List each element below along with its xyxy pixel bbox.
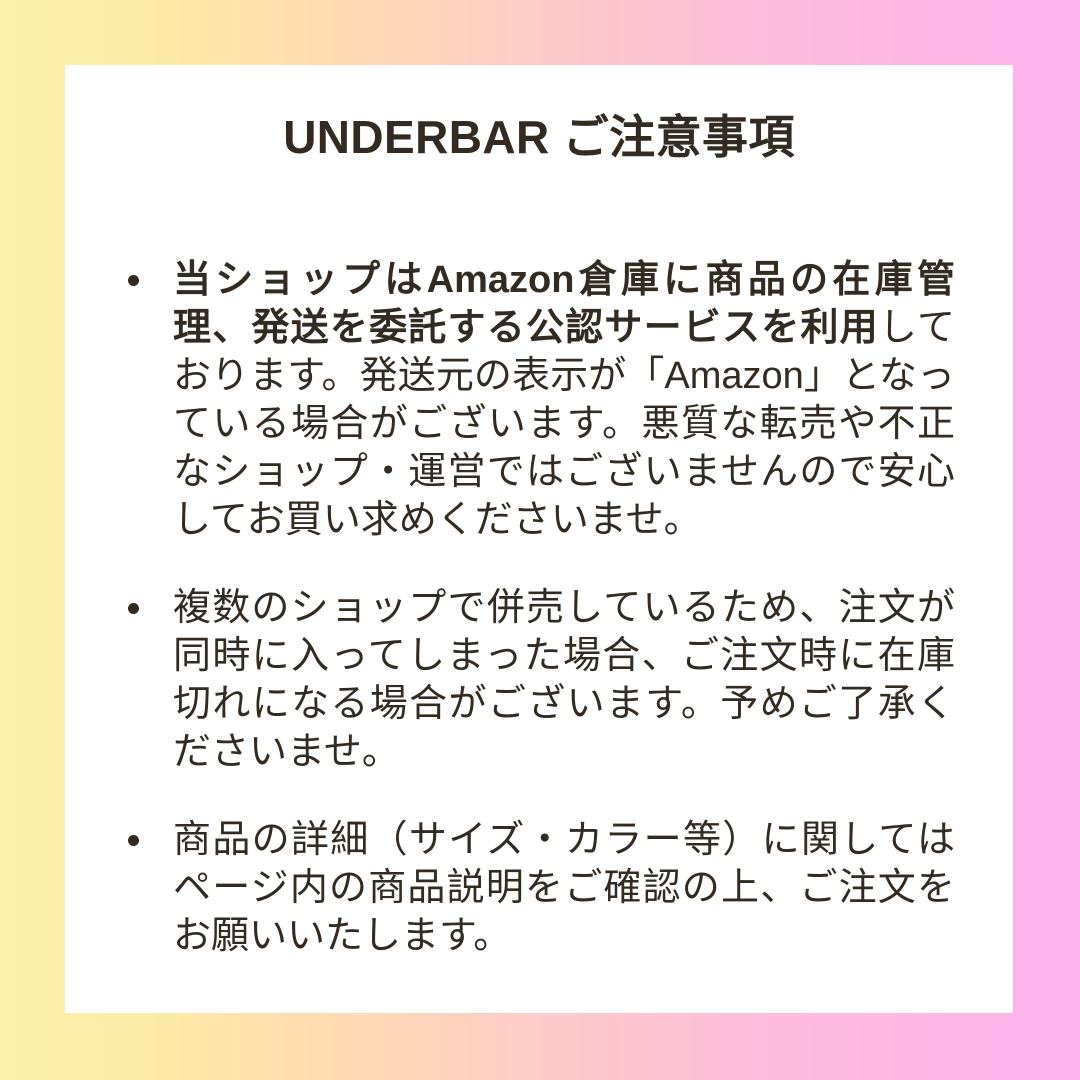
bullet-dot-icon bbox=[128, 603, 139, 614]
bullet-dot-icon bbox=[128, 835, 139, 846]
notice-text-body: 複数のショップで併売しているため、注文が同時に入ってしまった場合、ご注文時に在庫… bbox=[173, 587, 955, 773]
list-item: 当ショップはAmazon倉庫に商品の在庫管理、発送を委託する公認サービスを利用し… bbox=[121, 256, 955, 544]
bullet-dot-icon bbox=[128, 275, 139, 286]
list-item: 複数のショップで併売しているため、注文が同時に入ってしまった場合、ご注文時に在庫… bbox=[121, 584, 955, 776]
notice-list: 当ショップはAmazon倉庫に商品の在庫管理、発送を委託する公認サービスを利用し… bbox=[65, 256, 1013, 960]
list-item: 商品の詳細（サイズ・カラー等）に関してはページ内の商品説明をご確認の上、ご注文を… bbox=[121, 816, 955, 960]
notice-card: UNDERBAR ご注意事項 当ショップはAmazon倉庫に商品の在庫管理、発送… bbox=[65, 65, 1013, 1013]
notice-text-body: 商品の詳細（サイズ・カラー等）に関してはページ内の商品説明をご確認の上、ご注文を… bbox=[173, 819, 955, 957]
page-title: UNDERBAR ご注意事項 bbox=[65, 65, 1013, 164]
notice-text-emphasis: 当ショップはAmazon倉庫に商品の在庫管理、発送を委託する公認サービスを利用 bbox=[173, 259, 955, 349]
